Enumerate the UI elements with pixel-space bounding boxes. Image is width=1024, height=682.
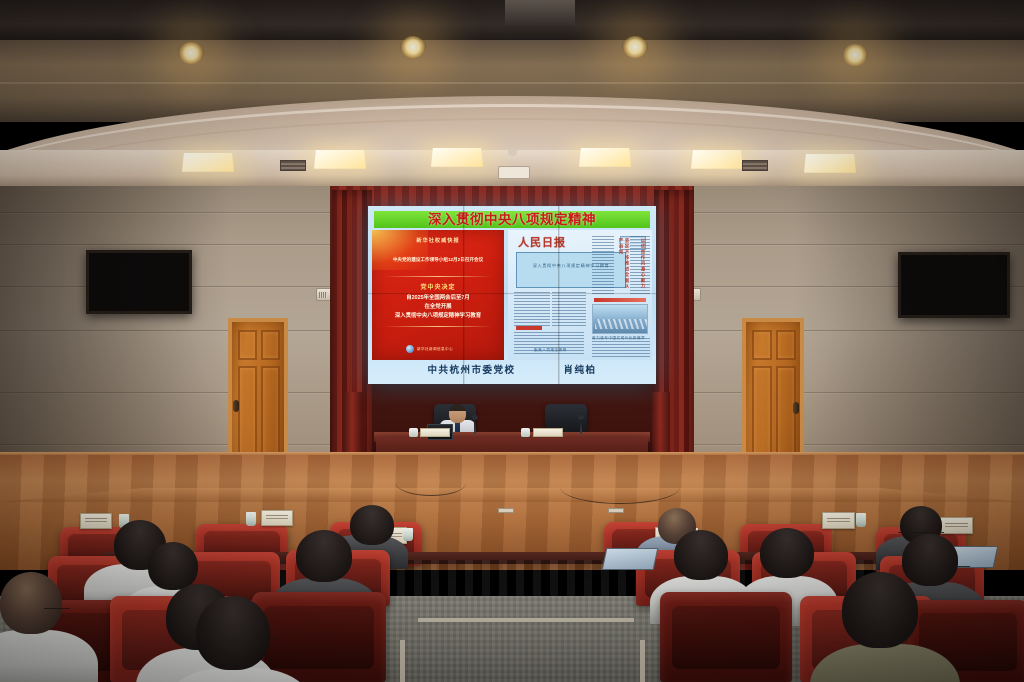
head-table-nameplate-right	[533, 428, 563, 437]
presenter-head	[449, 404, 466, 423]
newspaper-photo-caption: 奋力谱写中国式现代化新篇章	[592, 336, 645, 341]
slide-organization: 中共杭州市委党校	[427, 362, 515, 376]
presenter-microphone	[474, 418, 476, 434]
attendee-head	[760, 528, 814, 578]
slide-footer: 中共杭州市委党校 肖纯柏	[368, 362, 656, 376]
red-card-logo: 新华社新闻信息中心	[406, 345, 470, 353]
nameplate-text-lines	[827, 518, 851, 519]
newspaper-vertical-headline-1: 坚定不移推进全面从严治党	[618, 238, 630, 292]
red-card-rule-top	[384, 276, 492, 277]
seat-front-4[interactable]	[660, 592, 792, 682]
auditorium-photo: 深入贯彻中央八项规定精神 新华社权威快报 中央党的建设工作领导小组12月2日召开…	[0, 0, 1024, 682]
stage-front-bevel	[0, 488, 1024, 502]
newspaper-photo-banner-bar	[594, 298, 646, 302]
newspaper-column-1	[514, 292, 550, 326]
attendee-head	[296, 530, 352, 582]
stage-floor-outlet-left	[498, 508, 514, 513]
newspaper-masthead: 人民日报	[518, 234, 566, 250]
red-card-line-2: 在全党开展	[376, 303, 500, 311]
nameplate-5	[822, 512, 855, 529]
attendee-laptop-left[interactable]	[602, 548, 659, 570]
ceiling-air-grille-right	[742, 160, 768, 171]
ceiling-air-grille-left	[280, 160, 306, 171]
slide-speaker-name: 肖纯柏	[564, 362, 597, 376]
nameplate-6	[940, 517, 973, 534]
ceiling-panel-light-1	[182, 153, 234, 172]
carpet-trim-right	[640, 640, 645, 682]
attendee-glasses	[946, 566, 970, 569]
ceiling-panel-light-4	[579, 148, 631, 167]
stage-cable-1	[396, 470, 466, 496]
ceiling-speaker	[498, 166, 530, 179]
water-cup-2	[246, 512, 256, 526]
slide-newspaper: 人民日报 深入贯彻中央八项规定精神学习教育 坚定不移推进全面从严治党 以优良作风…	[508, 230, 652, 360]
attendee-head	[350, 505, 394, 545]
ceiling-smoke-detector	[508, 148, 517, 156]
ceiling-panel-light-5	[691, 150, 743, 169]
red-card-decision-label: 党中央决定	[372, 282, 504, 291]
door-panel-upper-right-r	[776, 330, 796, 360]
attendee-head	[902, 534, 958, 586]
newspaper-column-3	[552, 292, 586, 326]
head-table-cup-right	[521, 428, 530, 437]
attendee-head	[148, 542, 198, 590]
newspaper-column-6	[592, 338, 650, 358]
red-card-line-1: 自2025年全国两会后至7月	[376, 294, 500, 302]
water-cup-5	[856, 513, 866, 527]
ceiling-panel-light-3	[431, 148, 483, 167]
nameplate-1	[80, 513, 112, 529]
door-panel-upper-right	[261, 330, 280, 360]
nameplate-text-lines	[266, 515, 289, 516]
door-panel-lower-right	[261, 366, 280, 462]
red-card-glow	[372, 230, 428, 270]
head-table-microphone-right	[580, 418, 582, 434]
nameplate-2	[261, 510, 293, 526]
carpet-trim-left	[400, 640, 405, 682]
door-panel-lower-right-r	[776, 366, 796, 464]
xinhua-logo-icon	[406, 345, 414, 353]
ceiling-panel-light-6	[804, 154, 856, 173]
slide-red-card: 新华社权威快报 中央党的建设工作领导小组12月2日召开会议 党中央决定 自202…	[372, 230, 504, 360]
attendee-head	[674, 530, 728, 580]
carpet-trim-horizontal	[418, 618, 634, 622]
red-card-header: 新华社权威快报	[372, 237, 504, 244]
door-panel-upper-left	[238, 330, 257, 360]
left-wall-tv	[86, 250, 192, 314]
red-card-subtitle: 中央党的建设工作领导小组12月2日召开会议	[377, 257, 499, 264]
seat-front-3[interactable]	[252, 592, 386, 682]
newspaper-vertical-headline-2: 以优良作风凝心聚力	[640, 238, 646, 292]
door-panel-lower-left	[238, 366, 257, 462]
ceiling-spotlight-1	[178, 42, 204, 64]
ceiling-vent	[505, 0, 575, 26]
water-cup-3	[403, 528, 413, 541]
led-presentation-screen: 深入贯彻中央八项规定精神 新华社权威快报 中央党的建设工作领导小组12月2日召开…	[368, 206, 656, 384]
nameplate-text-lines	[945, 523, 969, 524]
nameplate-text-lines	[85, 518, 108, 519]
ceiling-spotlight-4	[842, 44, 868, 66]
newspaper-photo	[592, 304, 648, 334]
red-card-line-3: 深入贯彻中央八项规定精神学习教育	[376, 312, 500, 320]
stage-floor-outlet-right	[608, 508, 624, 513]
door-panel-upper-left-r	[752, 330, 772, 360]
red-card-logo-text: 新华社新闻信息中心	[417, 347, 453, 352]
attendee-glasses	[44, 608, 70, 611]
head-table-nameplate-left	[420, 428, 450, 437]
ceiling-panel-light-2	[314, 150, 366, 169]
door-handle-left[interactable]	[233, 400, 239, 412]
slide-banner-title: 深入贯彻中央八项规定精神	[374, 211, 650, 228]
curtain-valance	[332, 186, 692, 208]
ceiling-spotlight-3	[622, 36, 648, 58]
head-table-cup-left	[409, 428, 418, 437]
right-wall-tv	[898, 252, 1010, 318]
newspaper-red-tag	[516, 326, 542, 330]
attendee-glasses	[256, 638, 278, 641]
ceiling-spotlight-2	[400, 36, 426, 58]
newspaper-caption-1: 聚焦八项规定精神	[534, 348, 567, 353]
door-handle-right[interactable]	[793, 402, 799, 414]
attendee-head	[842, 572, 918, 648]
red-card-rule-bottom	[384, 326, 492, 327]
slide-background: 深入贯彻中央八项规定精神 新华社权威快报 中央党的建设工作领导小组12月2日召开…	[368, 206, 656, 384]
stage-cable-2	[560, 470, 680, 504]
seat-cushion	[264, 606, 374, 669]
newspaper-column-4	[592, 236, 614, 294]
attendee-head	[196, 596, 270, 670]
attendee-head	[0, 572, 62, 634]
door-panel-lower-left-r	[752, 366, 772, 464]
seat-cushion	[672, 606, 780, 669]
